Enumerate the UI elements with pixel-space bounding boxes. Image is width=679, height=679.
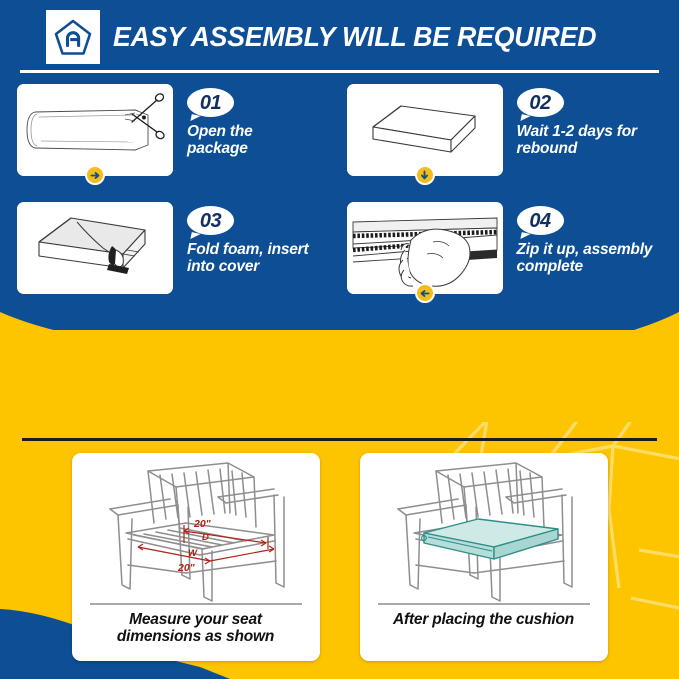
measure-cards: 20" D W 20" Measure your seatdimensions … (0, 453, 679, 661)
measure-divider (22, 438, 657, 441)
foam-inserted-into-cover-icon (17, 202, 173, 294)
step-02-text: 02 Wait 1-2 days forrebound (517, 84, 679, 158)
step-01-number: 01 (200, 93, 221, 113)
step-02-label: Wait 1-2 days forrebound (517, 123, 679, 158)
assembly-steps: 01 Open thepackage (0, 84, 679, 320)
svg-text:D: D (202, 532, 209, 543)
arrow-left-icon (415, 283, 435, 303)
step-03-number: 03 (200, 211, 221, 231)
house-pentagon-icon (46, 10, 100, 64)
step-03-label: Fold foam, insertinto cover (187, 241, 340, 276)
vacuum-sealed-package-with-scissors-icon (17, 84, 173, 176)
step-row-1: 01 Open thepackage (0, 84, 679, 202)
section-curve-divider (0, 312, 679, 422)
flat-foam-cushion-icon (347, 84, 503, 176)
step-03-illustration-card (17, 202, 173, 294)
svg-text:20": 20" (193, 518, 212, 530)
header-divider (20, 70, 659, 73)
measure-card-dimensions: 20" D W 20" Measure your seatdimensions … (72, 453, 320, 661)
svg-text:20": 20" (177, 562, 196, 574)
card-divider (378, 603, 590, 605)
step-03: 03 Fold foam, insertinto cover (0, 202, 340, 320)
step-04-text: 04 Zip it up, assemblycomplete (517, 202, 679, 276)
step-02-number-badge: 02 (517, 88, 564, 117)
step-04-number-badge: 04 (517, 206, 564, 235)
step-01-label: Open thepackage (187, 123, 340, 158)
step-02: 02 Wait 1-2 days forrebound (340, 84, 679, 202)
assembly-title: EASY ASSEMBLY WILL BE REQUIRED (113, 21, 596, 53)
patio-chair-with-dimensions-icon: 20" D W 20" (78, 457, 314, 603)
infographic-page: EASY ASSEMBLY WILL BE REQUIRED (0, 0, 679, 679)
assembly-header: EASY ASSEMBLY WILL BE REQUIRED (0, 8, 679, 66)
step-row-2: 03 Fold foam, insertinto cover (0, 202, 679, 320)
step-01: 01 Open thepackage (0, 84, 340, 202)
step-01-number-badge: 01 (187, 88, 234, 117)
step-04-illustration-card (347, 202, 503, 294)
step-03-text: 03 Fold foam, insertinto cover (187, 202, 340, 276)
step-04: 04 Zip it up, assemblycomplete (340, 202, 679, 320)
hand-zipping-cushion-cover-icon (347, 202, 503, 294)
arrow-down-icon (415, 165, 435, 185)
svg-text:W: W (188, 548, 198, 559)
measure-card-cushion: After placing the cushion (360, 453, 608, 661)
measure-card-1-caption: Measure your seatdimensions as shown (86, 611, 306, 646)
step-04-label: Zip it up, assemblycomplete (517, 241, 679, 276)
step-02-illustration-card (347, 84, 503, 176)
arrow-right-icon (85, 165, 105, 185)
step-02-number: 02 (529, 93, 550, 113)
step-04-number: 04 (529, 211, 550, 231)
step-03-number-badge: 03 (187, 206, 234, 235)
card-divider (90, 603, 302, 605)
step-01-illustration-card (17, 84, 173, 176)
measure-card-2-caption: After placing the cushion (374, 611, 594, 629)
patio-chair-with-cushion-icon (366, 457, 602, 603)
step-01-text: 01 Open thepackage (187, 84, 340, 158)
